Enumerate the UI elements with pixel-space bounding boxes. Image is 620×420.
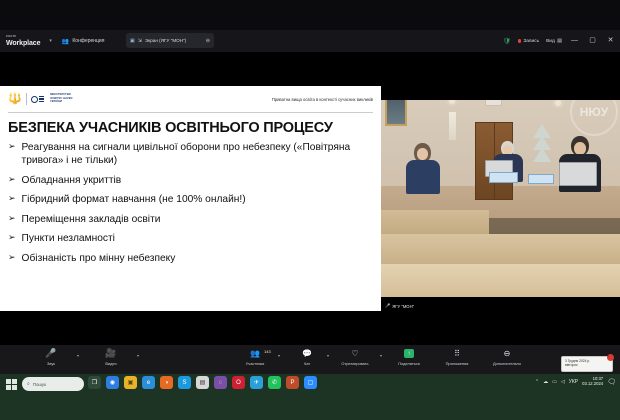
conference-label: Конференция [72,38,104,44]
camera-muted-icon: 🎥 [105,348,116,359]
bullet-text: Переміщення закладів освіти [22,213,161,226]
minimize-icon[interactable]: ⊖ [206,38,210,44]
bullet-marker-icon: ➢ [8,213,16,226]
share-screen-button[interactable]: ↑ Поделиться [386,348,432,366]
app-icon: ▣ [130,38,135,44]
participants-button[interactable]: 👥 Участники [232,348,278,366]
list-item: ➢ Реагування на сигнали цивільної оборон… [8,141,373,167]
zoom-logo-main: Workplace [6,40,40,47]
onedrive-icon[interactable]: ☁ [543,379,548,385]
view-menu[interactable]: Вид ▤ [546,38,562,44]
ministry-name: МІНІСТЕРСТВО ОСВІТИ І НАУКИ УКРАЇНИ [50,94,72,104]
ukraine-trident-icon: 🔱 [8,94,22,105]
participants-caret-icon[interactable]: ▾ [278,353,280,358]
video-letterbox [381,86,620,311]
audio-options-caret-icon[interactable]: ▾ [77,353,79,358]
participants-count: 143 [264,349,271,354]
zoom-control-toolbar: 🎤 Звук ▾ 🎥 Видео ▾ 👥 Участники 143 ▾ 💬 Ч… [0,345,620,374]
participant-name-label: 🎤 ЯГУ "МОН" [381,301,418,311]
zoom-title-bar: zoom Workplace ▾ 👥 Конференция ▣ ⇲ Экран… [0,30,620,52]
taskbar-clock[interactable]: 10:37 03.12.2024 [582,377,603,387]
shared-screen-label: Экран (ЯГУ "МОН") [145,38,203,43]
chat-icon: 💬 [302,348,312,359]
apps-label: Приложения [446,361,469,366]
edge-icon[interactable]: e [142,376,155,389]
participants-icon: 👥 [250,348,260,359]
participant-video-tile[interactable]: НЮУ 🎤 ЯГУ "МОН" [381,86,620,311]
zoom-icon[interactable]: ▢ [304,376,317,389]
list-item: ➢ Гібридний формат навчання (не 100% онл… [8,193,373,206]
volume-icon[interactable]: ◁ [561,379,565,385]
more-label: Дополнительно [493,361,521,366]
chevron-down-icon[interactable]: ▾ [49,38,52,44]
audio-label: Звук [47,361,55,366]
audio-button[interactable]: 🎤 Звук [28,348,74,366]
chrome-icon[interactable]: ◉ [106,376,119,389]
viber-icon[interactable]: ◌ [214,376,227,389]
bullet-text: Гібридний формат навчання (не 100% онлай… [22,193,246,206]
bullet-text: Обладнання укриттів [22,174,122,187]
zoom-meeting-window: zoom Workplace ▾ 👥 Конференция ▣ ⇲ Экран… [0,0,620,420]
window-maximize-button[interactable]: ▢ [587,30,598,52]
screen-share-icon: ⇲ [138,38,142,44]
video-options-caret-icon[interactable]: ▾ [137,353,139,358]
search-placeholder: Пошук [33,382,46,387]
clock-date: 03.12.2024 [582,382,603,387]
bullet-marker-icon: ➢ [8,252,16,265]
tray-expand-icon[interactable]: ⌃ [535,379,539,385]
list-item: ➢ Обізнаність про мінну небезпеку [8,252,373,265]
reactions-caret-icon[interactable]: ▾ [380,353,382,358]
shared-screen-tab[interactable]: ▣ ⇲ Экран (ЯГУ "МОН") ⊖ [126,33,214,48]
bullet-marker-icon: ➢ [8,232,16,245]
taskbar-app-icons: ❐ ◉ ▣ e ◑ S ▤ ◌ O ✈ ✆ P ▢ [88,376,317,389]
skype-icon[interactable]: S [178,376,191,389]
chat-label: Чат [304,361,310,366]
layout-icon: ▤ [557,38,562,44]
reaction-heart-icon: ♡ [351,348,358,359]
bullet-marker-icon: ➢ [8,141,16,167]
whatsapp-icon[interactable]: ✆ [268,376,281,389]
explorer-icon[interactable]: ▣ [124,376,137,389]
video-button[interactable]: 🎥 Видео [88,348,134,366]
recording-dot-icon [518,39,522,43]
shared-slide[interactable]: 🔱 МІНІСТЕРСТВО ОСВІТИ І НАУКИ УКРАЇНИ Пр… [0,86,381,311]
microphone-muted-icon: 🎤 [385,303,390,309]
reactions-label: Отреагировать [341,361,368,366]
system-tray: ⌃ ☁ ▭ ◁ УКР 10:37 03.12.2024 🗨 [535,377,616,387]
share-screen-label: Поделиться [398,361,419,366]
reactions-button[interactable]: ♡ Отреагировать [332,348,378,366]
recording-indicator[interactable]: Запись [518,39,539,44]
language-indicator[interactable]: УКР [569,379,578,385]
powerpoint-icon[interactable]: P [286,376,299,389]
ministry-logo: 🔱 МІНІСТЕРСТВО ОСВІТИ І НАУКИ УКРАЇНИ [8,93,72,105]
network-icon[interactable]: ▭ [552,379,557,385]
meeting-stage: 🔱 МІНІСТЕРСТВО ОСВІТИ І НАУКИ УКРАЇНИ Пр… [0,52,620,345]
search-input[interactable]: ⌕ Пошук [22,377,84,391]
list-item: ➢ Пункти незламності [8,232,373,245]
participants-label: Участники [246,361,265,366]
window-close-button[interactable]: ✕ [605,30,616,52]
titlebar-right-controls: 🛡 Запись Вид ▤ — ▢ ✕ [503,30,616,52]
ministry-line-3: УКРАЇНИ [50,101,72,104]
share-screen-icon: ↑ [404,348,414,359]
zoom-logo-small: zoom [6,35,40,39]
task-view-icon[interactable]: ❐ [88,376,101,389]
bullet-marker-icon: ➢ [8,174,16,187]
toast-badge: 4 [607,354,614,361]
slide-header: 🔱 МІНІСТЕРСТВО ОСВІТИ І НАУКИ УКРАЇНИ Пр… [0,86,381,112]
bullet-text: Реагування на сигнали цивільної оборони … [22,141,373,167]
firefox-icon[interactable]: ◑ [160,376,173,389]
windows-taskbar: ⌕ Пошук ❐ ◉ ▣ e ◑ S ▤ ◌ O ✈ ✆ P ▢ ⌃ ☁ ▭ … [0,374,620,420]
zoom-logo: zoom Workplace [6,35,40,47]
bullet-text: Обізнаність про мінну небезпеку [22,252,176,265]
video-label: Видео [105,361,116,366]
slide-topic: Приватна вища освіта в контексті сучасни… [272,97,373,102]
people-icon: 👥 [62,38,69,45]
chat-button[interactable]: 💬 Чат [284,348,330,366]
apps-button[interactable]: ⠿ Приложения [434,348,480,366]
apps-icon: ⠿ [454,348,460,359]
list-item: ➢ Обладнання укриттів [8,174,373,187]
conference-menu[interactable]: 👥 Конференция [62,38,105,45]
view-label: Вид [546,39,555,44]
shield-check-icon[interactable]: 🛡 [503,37,511,45]
calendar-toast[interactable]: 3 Грудня 2024 р. вівторок 4 [561,356,613,372]
store-icon[interactable]: ▤ [196,376,209,389]
search-icon: ⌕ [27,381,30,387]
bullet-text: Пункти незламності [22,232,115,245]
notifications-icon[interactable]: 🗨 [607,378,616,386]
divider [26,93,27,105]
opera-icon[interactable]: O [232,376,245,389]
bullet-marker-icon: ➢ [8,193,16,206]
telegram-icon[interactable]: ✈ [250,376,263,389]
slide-title: БЕЗПЕКА УЧАСНИКІВ ОСВІТНЬОГО ПРОЦЕСУ [0,113,381,141]
windows-start-icon[interactable] [6,379,17,390]
more-button[interactable]: ⊖ Дополнительно [484,348,530,366]
mon-logo-icon [31,96,45,103]
toast-line-2: вівторок [565,363,609,367]
recording-label: Запись [523,39,539,44]
microphone-muted-icon: 🎤 [45,348,56,359]
window-minimize-button[interactable]: — [569,30,580,52]
slide-bullet-list: ➢ Реагування на сигнали цивільної оборон… [0,141,381,265]
chat-caret-icon[interactable]: ▾ [327,353,329,358]
participant-name-text: ЯГУ "МОН" [392,304,414,309]
more-icon: ⊖ [504,348,511,359]
list-item: ➢ Переміщення закладів освіти [8,213,373,226]
